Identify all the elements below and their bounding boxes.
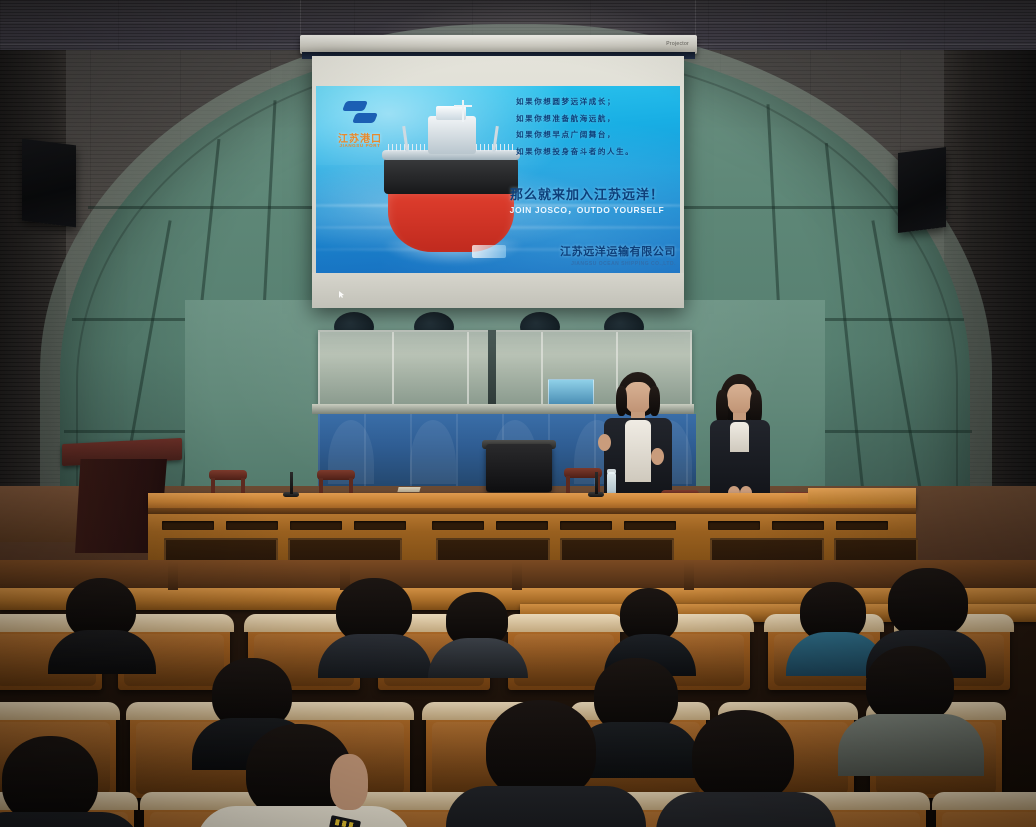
slide-bullet: 如果你想早点广阔舞台， xyxy=(516,131,674,139)
audience-shoulders xyxy=(318,634,432,678)
ship-mast xyxy=(462,100,464,122)
slide-footer: 江苏远洋运输有限公司 JIANGSU OCEAN SHIPPING CO.,LT… xyxy=(476,243,676,267)
slide-tagline-en: JOIN JOSCO，OUTDO YOURSELF xyxy=(498,204,676,216)
slide-bullet: 如果你想准备航海远航， xyxy=(516,115,674,123)
audience-head xyxy=(2,736,98,824)
slide-footer-en: JIANGSU OCEAN SHIPPING CO.,LTD. xyxy=(476,261,676,267)
slide-bullet: 如果你想圆梦远洋成长； xyxy=(516,98,674,106)
audience-shoulders xyxy=(656,792,836,827)
audience-seat xyxy=(936,796,1036,827)
wood-wall-divider xyxy=(684,560,694,590)
screen-lower-blank xyxy=(312,273,684,308)
presenter-face xyxy=(727,384,752,415)
av-console[interactable] xyxy=(486,444,552,492)
josco-mark-icon xyxy=(472,245,506,258)
ship-mast-crossbar xyxy=(454,105,472,107)
audience-shoulders xyxy=(838,714,984,776)
audience-head xyxy=(692,710,794,804)
conference-hall-photo: Projector 江苏港口 JIANGSU PORT xyxy=(0,0,1036,827)
presenter-face xyxy=(624,382,652,414)
wood-wall-divider xyxy=(168,560,178,590)
glass-mullion xyxy=(488,330,496,406)
wall-speaker-left xyxy=(22,139,76,228)
presenter-top xyxy=(730,422,749,452)
jiangsu-port-mark-icon xyxy=(342,98,378,128)
audience-uniform-shoulders xyxy=(196,806,412,827)
table-riser-right xyxy=(808,488,916,504)
slide-bullet-list: 如果你想圆梦远洋成长； 如果你想准备航海远航， 如果你想早点广阔舞台， 如果你想… xyxy=(506,98,674,164)
projection-screen[interactable]: 江苏港口 JIANGSU PORT 如果你想圆梦远洋成长； 如果你 xyxy=(312,56,684,308)
document-on-table xyxy=(397,487,420,492)
microphone xyxy=(290,472,293,494)
wood-wall-divider xyxy=(512,560,522,590)
audience-seating-area xyxy=(0,560,1036,827)
audience-head xyxy=(866,646,954,724)
slide-tagline-cn: 那么就来加入江苏远洋！ xyxy=(498,184,676,203)
slide-content: 江苏港口 JIANGSU PORT 如果你想圆梦远洋成长； 如果你 xyxy=(316,86,680,273)
presenter-right xyxy=(700,374,778,500)
presenter-hand xyxy=(598,434,611,451)
presenter-blouse xyxy=(625,420,651,482)
presenter-hand xyxy=(651,448,664,465)
table-top-surface xyxy=(148,493,916,509)
audience-shoulders xyxy=(446,786,646,827)
slide-bullet: 如果你想投身奋斗者的人生。 xyxy=(516,148,674,156)
microphone xyxy=(595,472,598,494)
presenter-hair-side xyxy=(649,386,660,416)
wall-emblem xyxy=(548,379,594,405)
presenter-hair-side xyxy=(616,386,627,416)
ship-superstructure xyxy=(428,116,476,154)
audience-head xyxy=(486,700,596,800)
audience-head xyxy=(888,568,968,638)
audience-hand xyxy=(330,754,368,810)
slide-footer-cn: 江苏远洋运输有限公司 xyxy=(476,243,676,259)
wall-speaker-right xyxy=(898,147,946,233)
housing-brand-label: Projector xyxy=(666,41,689,47)
